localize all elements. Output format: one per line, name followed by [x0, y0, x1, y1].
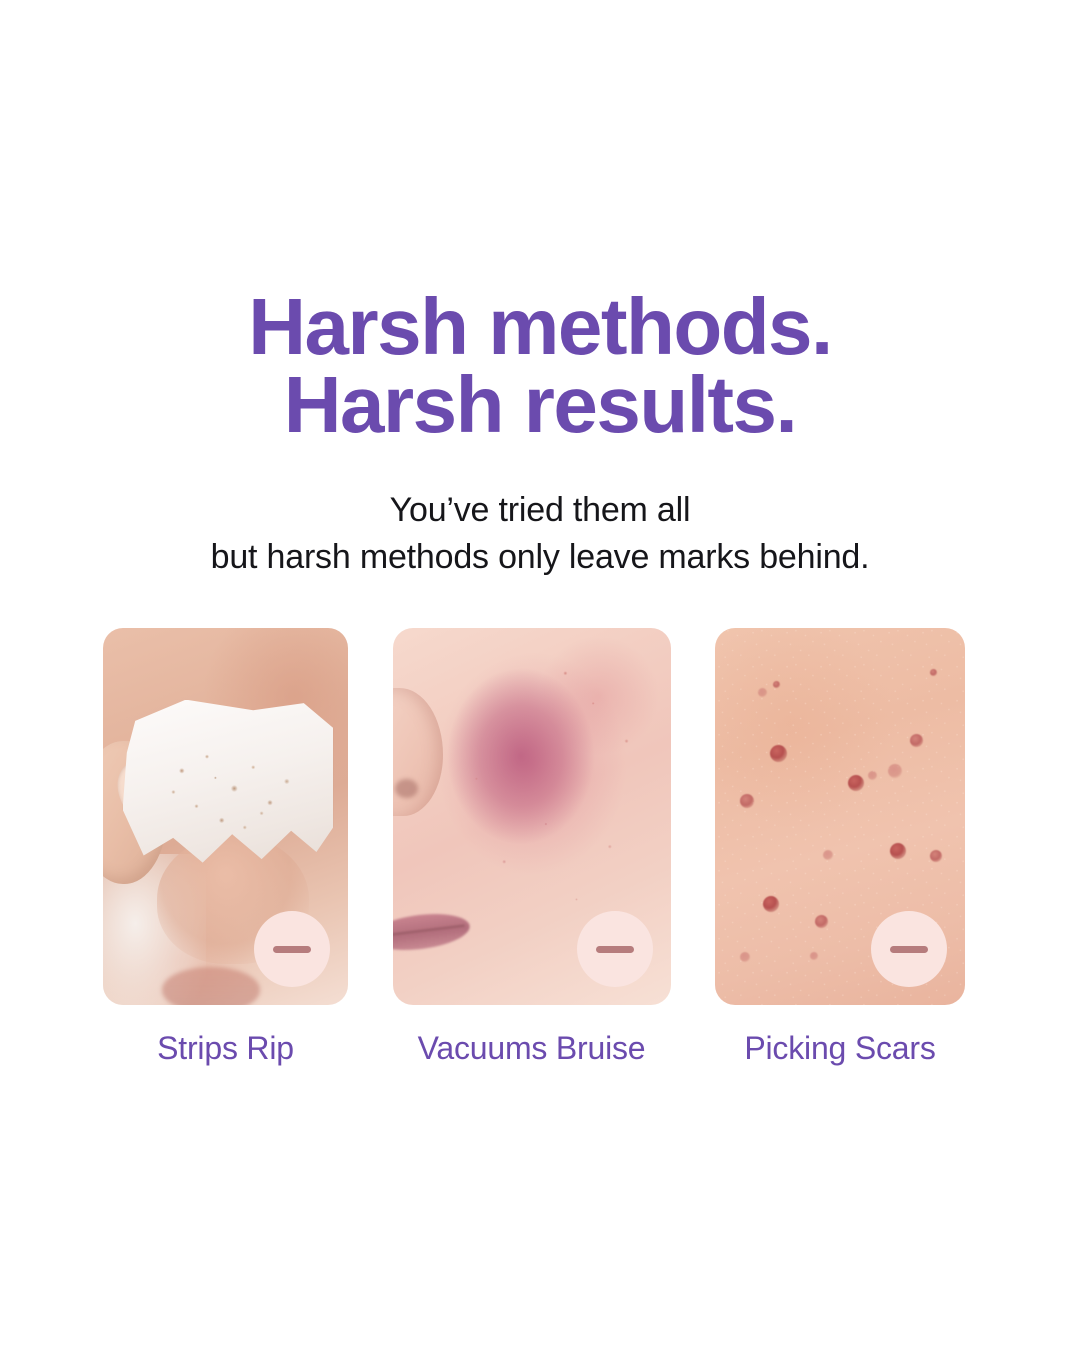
acne-spot	[773, 681, 780, 688]
minus-icon	[273, 946, 311, 953]
minus-badge	[577, 911, 653, 987]
acne-spot	[930, 669, 937, 676]
acne-spot	[930, 850, 942, 862]
acne-spot	[910, 734, 923, 747]
card-strips[interactable]	[103, 628, 348, 1005]
subtitle-line-1: You’ve tried them all	[0, 487, 1080, 534]
card-picking[interactable]	[715, 628, 965, 1005]
headline-line-2: Harsh results.	[0, 366, 1080, 444]
minus-badge	[871, 911, 947, 987]
acne-spot	[763, 896, 779, 912]
card-vacuums[interactable]	[393, 628, 671, 1005]
acne-spot	[848, 775, 864, 791]
comparison-card-row	[103, 628, 965, 1005]
page-title: Harsh methods. Harsh results.	[0, 288, 1080, 444]
promo-canvas: Harsh methods. Harsh results. You’ve tri…	[0, 0, 1080, 1350]
acne-spot	[823, 850, 833, 860]
acne-spot	[740, 794, 754, 808]
acne-spot	[888, 764, 902, 778]
acne-spot	[868, 771, 877, 780]
card-caption-row: Strips Rip Vacuums Bruise Picking Scars	[103, 1028, 965, 1074]
acne-spot	[770, 745, 787, 762]
acne-spot	[740, 952, 750, 962]
acne-spot	[810, 952, 818, 960]
acne-spot	[758, 688, 767, 697]
caption-strips: Strips Rip	[103, 1028, 348, 1068]
acne-spot	[815, 915, 828, 928]
page-subtitle: You’ve tried them all but harsh methods …	[0, 487, 1080, 581]
caption-picking: Picking Scars	[715, 1028, 965, 1068]
minus-icon	[596, 946, 634, 953]
minus-badge	[254, 911, 330, 987]
minus-icon	[890, 946, 928, 953]
acne-spot	[890, 843, 906, 859]
caption-vacuums: Vacuums Bruise	[393, 1028, 671, 1068]
subtitle-line-2: but harsh methods only leave marks behin…	[0, 534, 1080, 581]
lips-shape	[162, 967, 260, 1005]
headline-line-1: Harsh methods.	[0, 288, 1080, 366]
